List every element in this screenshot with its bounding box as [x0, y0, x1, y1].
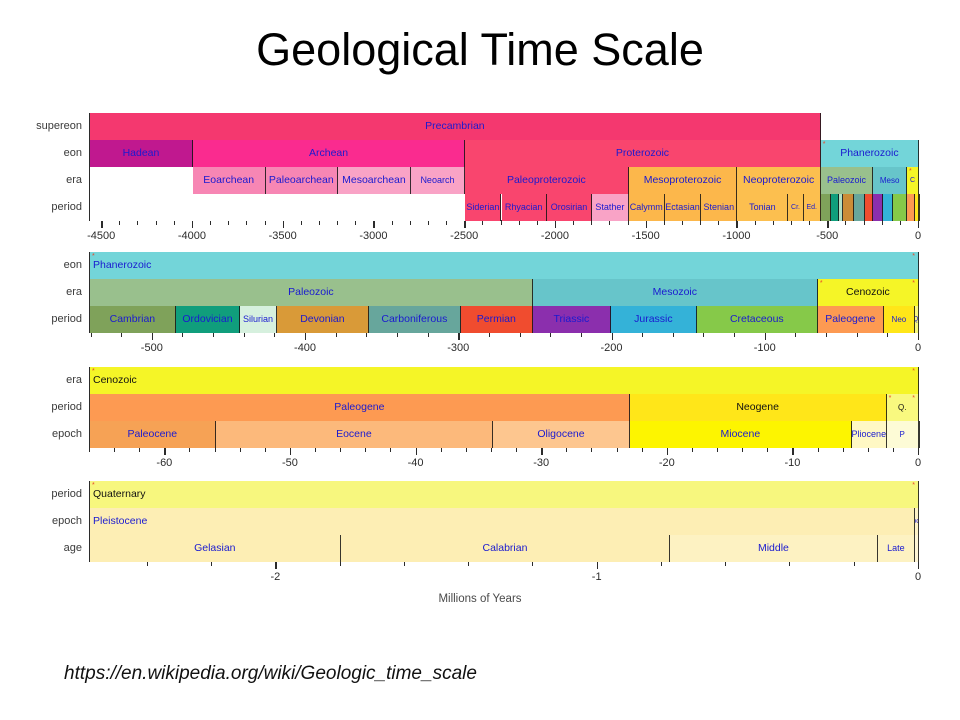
axis-tick-label: -20	[659, 457, 675, 469]
axis-tick-label: -2000	[541, 230, 569, 242]
band-label: Late	[887, 544, 905, 553]
band-ed[interactable]: Ed.	[804, 194, 821, 221]
band-neo[interactable]: Neo	[884, 306, 915, 333]
source-url: https://en.wikipedia.org/wiki/Geologic_t…	[64, 663, 477, 685]
axis-tick	[617, 448, 618, 452]
band-cretaceous[interactable]: Cretaceous	[697, 306, 818, 333]
axis-tick	[789, 562, 790, 566]
axis-tick	[661, 562, 662, 566]
axis-tick	[845, 221, 846, 225]
band-label: Paleozoic	[827, 176, 866, 185]
band-paleozoic[interactable]: Paleozoic	[821, 167, 873, 194]
axis-tick	[336, 333, 337, 337]
axis-tick	[355, 221, 356, 225]
axis-tick	[541, 448, 542, 455]
band-label: Ectasian	[665, 203, 700, 212]
axis-tick	[147, 562, 148, 566]
band-label: Miocene	[721, 429, 761, 440]
axis-tick-label: -400	[294, 342, 316, 354]
axis-tick	[718, 221, 719, 225]
axis-tick	[893, 448, 894, 452]
axis-tick	[274, 333, 275, 337]
asterisk-icon: *	[889, 395, 892, 402]
band-label: Eocene	[336, 429, 372, 440]
row-label-era: era	[0, 174, 82, 186]
row-label-era: era	[0, 374, 82, 386]
axis-tick	[792, 448, 793, 455]
axis-tick	[646, 221, 647, 228]
band-label: Silurian	[243, 315, 273, 324]
axis-tick-label: -60	[156, 457, 172, 469]
axis-tick	[139, 448, 140, 452]
band-middle[interactable]: Middle	[670, 535, 877, 562]
band-unnamed[interactable]	[915, 535, 919, 562]
band-p[interactable]: P	[887, 421, 919, 448]
band-label: Stather	[595, 203, 624, 212]
axis-tick-label: -3000	[359, 230, 387, 242]
axis-tick	[767, 448, 768, 452]
band-carboniferous[interactable]	[854, 194, 865, 221]
band-c[interactable]: C*	[907, 167, 919, 194]
row-label-eon: eon	[0, 259, 82, 271]
band-cambrian[interactable]: Cambrian	[90, 306, 176, 333]
band-label: Paleoproterozoic	[507, 175, 586, 186]
axis-caption: Millions of Years	[0, 593, 960, 605]
axis-tick	[441, 448, 442, 452]
band-gelasian[interactable]: Gelasian	[90, 535, 341, 562]
axis-tick	[315, 448, 316, 452]
row-label-eon: eon	[0, 147, 82, 159]
band-label: Q.	[915, 316, 919, 323]
axis-tick	[597, 562, 598, 569]
band-meso[interactable]: Meso	[873, 167, 907, 194]
band-stather[interactable]: Stather	[592, 194, 628, 221]
band-ordovician[interactable]: Ordovician	[176, 306, 240, 333]
band-label: C	[910, 177, 915, 184]
axis-tick-label: -300	[447, 342, 469, 354]
axis-tick	[667, 448, 668, 455]
axis-tick	[164, 448, 165, 455]
band-mesoarchean[interactable]: Mesoarchean	[338, 167, 411, 194]
axis-tick	[137, 221, 138, 225]
axis-tick	[265, 221, 266, 225]
axis-tick-label: -200	[601, 342, 623, 354]
axis-tick	[742, 448, 743, 452]
axis-tick	[373, 221, 374, 228]
axis-tick	[156, 221, 157, 225]
axis-tick	[642, 448, 643, 452]
band-silurian[interactable]: Silurian	[240, 306, 277, 333]
precambrian-timeline-plot-area: PrecambrianHadeanArcheanProterozoicPhane…	[89, 113, 918, 221]
axis-tick	[428, 221, 429, 225]
band-label: Mesoproterozoic	[644, 175, 722, 186]
band-late[interactable]: Late	[878, 535, 916, 562]
axis-tick	[918, 562, 919, 569]
asterisk-icon: *	[820, 280, 823, 287]
cenozoic-timeline-plot-area: Cenozoic**PaleogeneNeogeneQ.**PaleoceneE…	[89, 367, 918, 448]
band-label: Cambrian	[110, 314, 156, 325]
band-label: Phanerozoic	[840, 148, 898, 159]
band-label: Middle	[758, 543, 789, 554]
band-pleistocene[interactable]: Pleistocene	[90, 508, 915, 535]
axis-tick	[482, 221, 483, 225]
band-siderian[interactable]: Siderian	[465, 194, 501, 221]
axis-tick	[275, 562, 276, 569]
band-label: Cenozoic	[93, 375, 137, 386]
band-label: Paleogene	[825, 314, 875, 325]
band-label: Rhyacian	[505, 203, 543, 212]
band-q[interactable]: Q.**	[887, 394, 919, 421]
band-triassic[interactable]	[873, 194, 882, 221]
axis-tick	[826, 333, 827, 337]
band-label: Calabrian	[482, 543, 527, 554]
axis-tick	[700, 221, 701, 225]
axis-tick	[755, 221, 756, 225]
axis-tick	[591, 221, 592, 225]
asterisk-icon: *	[823, 141, 826, 148]
axis-tick	[809, 221, 810, 225]
band-q[interactable]: Q.	[915, 306, 919, 333]
axis-tick	[392, 221, 393, 225]
band-holocene[interactable]: Holocene	[915, 508, 919, 535]
band-paleozoic[interactable]: Paleozoic	[90, 279, 533, 306]
band-ectasian[interactable]: Ectasian	[665, 194, 701, 221]
axis-tick-label: 0	[915, 457, 921, 469]
band-label: Phanerozoic	[93, 260, 151, 271]
band-label: Archean	[309, 148, 348, 159]
axis-tick	[119, 221, 120, 225]
axis-tick	[734, 333, 735, 337]
band-permian[interactable]	[865, 194, 874, 221]
band-quaternary[interactable]: Quaternary**	[90, 481, 919, 508]
band-label: Permian	[477, 314, 516, 325]
axis-tick	[642, 333, 643, 337]
band-paleoarchean[interactable]: Paleoarchean	[266, 167, 339, 194]
band-label: Siderian	[466, 203, 499, 212]
band-label: Pliocene	[852, 430, 886, 439]
axis-tick	[410, 221, 411, 225]
axis-tick	[520, 333, 521, 337]
axis-tick	[532, 562, 533, 566]
axis-tick-label: -2500	[450, 230, 478, 242]
band-label: Precambrian	[425, 121, 485, 132]
band-ordovician[interactable]	[831, 194, 839, 221]
band-mesozoic[interactable]: Mesozoic	[533, 279, 818, 306]
axis-tick	[566, 448, 567, 452]
axis-tick	[682, 221, 683, 225]
axis-tick	[795, 333, 796, 337]
axis-tick	[818, 448, 819, 452]
band-label: Devonian	[300, 314, 344, 325]
axis-tick	[246, 221, 247, 225]
axis-tick	[918, 448, 919, 455]
band-calymm[interactable]: Calymm	[629, 194, 665, 221]
axis-tick	[491, 448, 492, 452]
band-cr[interactable]: Cr.	[788, 194, 803, 221]
axis-tick	[458, 333, 459, 340]
axis-tick	[174, 221, 175, 225]
axis-tick	[446, 221, 447, 225]
band-label: Paleoarchean	[269, 175, 334, 186]
axis-tick	[501, 221, 502, 225]
axis-tick	[612, 333, 613, 340]
axis-tick-label: 0	[915, 342, 921, 354]
axis-tick	[864, 221, 865, 225]
quaternary-timeline-plot-area: Quaternary**PleistoceneHoloceneGelasianC…	[89, 481, 918, 562]
axis-tick	[791, 221, 792, 225]
band-label: Neo	[892, 316, 907, 324]
axis-tick	[765, 333, 766, 340]
band-label: Paleocene	[127, 429, 177, 440]
axis-tick-label: -4000	[178, 230, 206, 242]
asterisk-icon: *	[92, 253, 95, 260]
axis-tick-label: -4500	[87, 230, 115, 242]
band-oligocene[interactable]: Oligocene	[493, 421, 630, 448]
axis-tick	[773, 221, 774, 225]
band-cenozoic[interactable]: Cenozoic**	[90, 367, 919, 394]
axis-tick	[581, 333, 582, 337]
band-cretaceous[interactable]	[893, 194, 907, 221]
axis-tick	[882, 221, 883, 225]
band-cenozoic[interactable]: Cenozoic**	[818, 279, 919, 306]
axis-tick	[397, 333, 398, 337]
band-devonian[interactable]: Devonian	[277, 306, 369, 333]
band-label: Orosirian	[551, 203, 588, 212]
axis-tick	[192, 221, 193, 228]
band-precambrian[interactable]: Precambrian	[90, 113, 821, 140]
band-label: Jurassic	[634, 314, 673, 325]
axis-tick	[550, 333, 551, 337]
axis-tick-label: -10	[784, 457, 800, 469]
band-label: Cretaceous	[730, 314, 784, 325]
band-eoarchean[interactable]: Eoarchean	[193, 167, 266, 194]
axis-tick	[900, 221, 901, 225]
axis-tick	[573, 221, 574, 225]
band-stenian[interactable]: Stenian	[701, 194, 737, 221]
band-permian[interactable]: Permian	[461, 306, 533, 333]
axis-tick	[152, 333, 153, 340]
axis-tick	[868, 448, 869, 452]
band-rhyacian[interactable]: Rhyacian	[502, 194, 547, 221]
band-label: Neoproterozoic	[743, 175, 814, 186]
axis-tick-label: -500	[816, 230, 838, 242]
asterisk-icon: *	[912, 368, 915, 375]
band-neoarch[interactable]: Neoarch	[411, 167, 465, 194]
axis-tick	[182, 333, 183, 337]
band-hadean[interactable]: Hadean	[90, 140, 193, 167]
row-label-age: age	[0, 542, 82, 554]
axis-tick	[366, 333, 367, 337]
axis-tick-label: -40	[408, 457, 424, 469]
band-paleocene[interactable]: Paleocene	[90, 421, 216, 448]
axis-tick	[283, 221, 284, 228]
axis-tick	[215, 448, 216, 452]
band-label: Meso	[880, 177, 900, 185]
band-h[interactable]: H	[919, 421, 920, 448]
band-label: Mesoarchean	[342, 175, 406, 186]
axis-tick	[673, 333, 674, 337]
axis-tick	[703, 333, 704, 337]
band-label: Gelasian	[194, 543, 235, 554]
row-label-era: era	[0, 286, 82, 298]
axis-tick	[609, 221, 610, 225]
band-label: Paleogene	[334, 402, 384, 413]
band-label: Ordovician	[182, 314, 232, 325]
band-phanerozoic[interactable]: Phanerozoic*	[821, 140, 919, 167]
band-label: Mesozoic	[653, 287, 697, 298]
axis-tick	[918, 333, 919, 340]
cenozoic-timeline: Cenozoic**PaleogeneNeogeneQ.**PaleoceneE…	[0, 367, 960, 488]
band-proterozoic[interactable]: Proterozoic	[465, 140, 821, 167]
axis-tick-label: 0	[915, 230, 921, 242]
axis-tick	[555, 221, 556, 228]
band-label: P	[900, 431, 905, 439]
axis-tick-label: -100	[754, 342, 776, 354]
band-label: Carboniferous	[381, 314, 447, 325]
row-label-period: period	[0, 201, 82, 213]
asterisk-icon: *	[912, 253, 915, 260]
band-unnamed[interactable]	[90, 194, 465, 221]
band-label: Q.	[898, 404, 906, 412]
axis-tick	[390, 448, 391, 452]
axis-tick	[843, 448, 844, 452]
axis-tick-label: -1	[592, 571, 602, 583]
axis-tick-label: -2	[270, 571, 280, 583]
axis-tick	[305, 333, 306, 340]
axis-tick	[340, 448, 341, 452]
band-paleogene[interactable]	[907, 194, 915, 221]
band-label: Holocene	[915, 518, 919, 525]
asterisk-icon: *	[912, 395, 915, 402]
axis-tick	[210, 221, 211, 225]
band-label: Pleistocene	[93, 516, 147, 527]
row-label-period: period	[0, 313, 82, 325]
axis-tick	[827, 221, 828, 228]
asterisk-icon: *	[912, 482, 915, 489]
axis-tick	[857, 333, 858, 337]
band-phanerozoic[interactable]: Phanerozoic**	[90, 252, 919, 279]
axis-tick	[404, 562, 405, 566]
precambrian-timeline: PrecambrianHadeanArcheanProterozoicPhane…	[0, 113, 960, 261]
axis-tick-label: -500	[141, 342, 163, 354]
axis-tick	[265, 448, 266, 452]
axis-tick	[213, 333, 214, 337]
band-quaternary[interactable]	[919, 194, 920, 221]
axis-tick	[101, 221, 102, 228]
band-jurassic[interactable]: Jurassic	[611, 306, 697, 333]
phanerozoic-timeline-plot-area: Phanerozoic**PaleozoicMesozoicCenozoic**…	[89, 252, 918, 333]
band-jurassic[interactable]	[883, 194, 893, 221]
axis-tick	[591, 448, 592, 452]
axis-tick	[717, 448, 718, 452]
axis-tick	[464, 221, 465, 228]
band-triassic[interactable]: Triassic	[533, 306, 611, 333]
band-eocene[interactable]: Eocene	[216, 421, 494, 448]
band-neoproterozoic[interactable]: Neoproterozoic	[737, 167, 820, 194]
axis-tick	[428, 333, 429, 337]
axis-tick	[290, 448, 291, 455]
band-orosirian[interactable]: Orosirian	[547, 194, 592, 221]
band-miocene[interactable]: Miocene	[630, 421, 852, 448]
band-paleogene[interactable]: Paleogene	[818, 306, 884, 333]
axis-tick	[466, 448, 467, 452]
axis-tick	[365, 448, 366, 452]
band-label: Oligocene	[537, 429, 584, 440]
axis-tick	[519, 221, 520, 225]
axis-tick	[114, 448, 115, 452]
band-label: Cr.	[791, 204, 800, 211]
band-label: H	[919, 431, 920, 438]
axis-tick	[664, 221, 665, 225]
band-label: Neoarch	[420, 176, 454, 185]
band-calabrian[interactable]: Calabrian	[341, 535, 671, 562]
axis-tick-label: -1000	[722, 230, 750, 242]
phanerozoic-timeline: Phanerozoic**PaleozoicMesozoicCenozoic**…	[0, 252, 960, 373]
axis-tick	[918, 221, 919, 228]
axis-tick	[189, 448, 190, 452]
band-label: Eoarchean	[203, 175, 254, 186]
band-devonian[interactable]	[843, 194, 854, 221]
axis-tick	[468, 562, 469, 566]
quaternary-timeline: Quaternary**PleistoceneHoloceneGelasianC…	[0, 481, 960, 602]
axis-tick	[91, 333, 92, 337]
band-label: Tonian	[749, 203, 776, 212]
row-label-epoch: epoch	[0, 515, 82, 527]
axis-tick-label: 0	[915, 571, 921, 583]
band-label: Quaternary	[93, 489, 146, 500]
band-label: Neogene	[736, 402, 779, 413]
axis-tick	[211, 562, 212, 566]
band-label: Proterozoic	[616, 148, 669, 159]
band-tonian[interactable]: Tonian	[737, 194, 788, 221]
asterisk-icon: *	[909, 168, 912, 175]
band-label: Cenozoic	[846, 287, 890, 298]
axis-tick	[240, 448, 241, 452]
axis-tick	[337, 221, 338, 225]
band-paleoproterozoic[interactable]: Paleoproterozoic	[465, 167, 628, 194]
asterisk-icon: *	[92, 368, 95, 375]
row-label-supereon: supereon	[0, 120, 82, 132]
axis-tick-label: -30	[533, 457, 549, 469]
axis-tick	[516, 448, 517, 452]
page-title: Geological Time Scale	[0, 24, 960, 76]
axis-tick	[89, 448, 90, 452]
row-label-period: period	[0, 488, 82, 500]
band-paleogene[interactable]: Paleogene	[90, 394, 630, 421]
axis-tick	[319, 221, 320, 225]
axis-tick	[228, 221, 229, 225]
band-cambrian[interactable]	[821, 194, 831, 221]
axis-tick-label: -50	[282, 457, 298, 469]
axis-tick	[887, 333, 888, 337]
row-label-period: period	[0, 401, 82, 413]
band-archean[interactable]: Archean	[193, 140, 465, 167]
axis-tick	[537, 221, 538, 225]
band-label: Ed.	[807, 204, 818, 211]
axis-tick-label: -3500	[269, 230, 297, 242]
axis-tick-label: -1500	[632, 230, 660, 242]
band-label: Paleozoic	[288, 287, 334, 298]
band-neogene[interactable]: Neogene	[630, 394, 887, 421]
axis-tick	[340, 562, 341, 566]
asterisk-icon: *	[912, 280, 915, 287]
band-unnamed[interactable]	[90, 167, 193, 194]
band-mesoproterozoic[interactable]: Mesoproterozoic	[629, 167, 738, 194]
axis-tick	[301, 221, 302, 225]
band-pliocene[interactable]: Pliocene	[852, 421, 887, 448]
axis-tick	[416, 448, 417, 455]
band-carboniferous[interactable]: Carboniferous	[369, 306, 461, 333]
